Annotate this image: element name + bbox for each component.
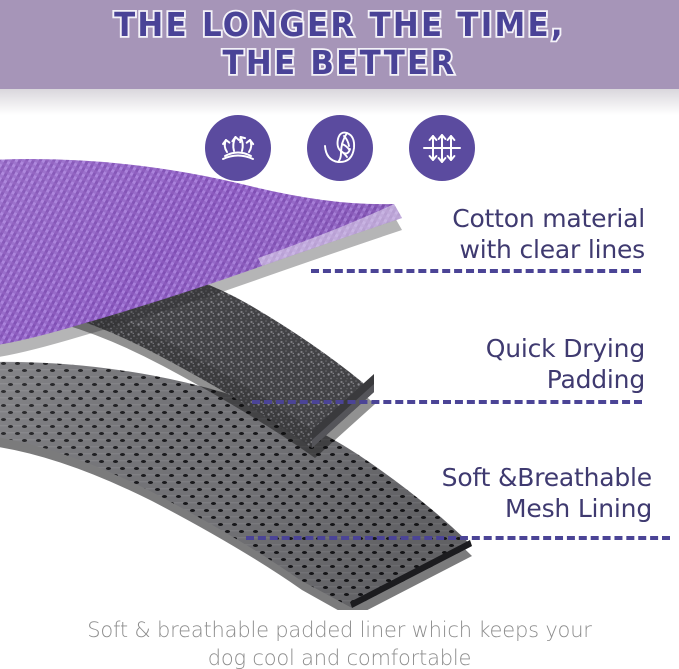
callout-dash-cotton [311, 269, 641, 273]
callout-dash-padding [252, 400, 642, 404]
bottom-caption: Soft & breathable padded liner which kee… [0, 616, 679, 669]
callout-label-padding: Quick Drying Padding [340, 333, 645, 395]
callout-label-cotton: Cotton material with clear lines [340, 203, 645, 265]
page-title: THE LONGER THE TIME, THE BETTER [0, 6, 679, 82]
product-infographic: THE LONGER THE TIME, THE BETTER [0, 0, 679, 669]
callout-dash-mesh [246, 536, 670, 540]
callout-label-mesh: Soft &Breathable Mesh Lining [340, 462, 652, 524]
